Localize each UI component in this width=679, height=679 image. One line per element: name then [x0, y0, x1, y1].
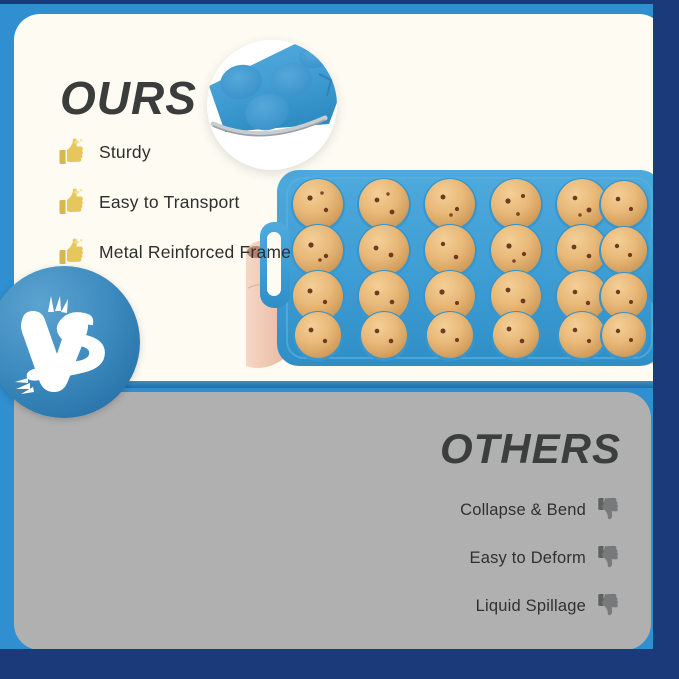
- ours-feature-label: Easy to Transport: [99, 192, 240, 213]
- reinforced-frame-detail-icon: [207, 40, 337, 170]
- others-feature-label: Easy to Deform: [469, 549, 586, 568]
- others-heading: OTHERS: [440, 425, 621, 473]
- comparison-infographic: OURS Sturdy: [0, 0, 679, 679]
- thumbs-up-icon: [56, 137, 84, 167]
- others-panel: OTHERS Collapse & Bend Easy to Deform: [14, 392, 651, 650]
- thumbs-up-icon: [56, 187, 84, 217]
- ours-product-photo: [246, 160, 665, 385]
- vs-badge: VS: [0, 266, 140, 418]
- others-feature-item: Liquid Spillage: [460, 593, 623, 619]
- ours-feature-item: Metal Reinforced Frame: [56, 237, 291, 267]
- others-feature-list: Collapse & Bend Easy to Deform: [460, 497, 623, 619]
- ours-detail-inset: [207, 40, 337, 170]
- ours-feature-item: Easy to Transport: [56, 187, 291, 217]
- others-feature-label: Liquid Spillage: [476, 597, 586, 616]
- thumbs-down-icon: [598, 545, 623, 571]
- ours-feature-label: Metal Reinforced Frame: [99, 242, 291, 263]
- ours-feature-label: Sturdy: [99, 142, 151, 163]
- thumbs-up-icon: [56, 237, 84, 267]
- frame-right-upper-border: [671, 0, 679, 380]
- others-feature-label: Collapse & Bend: [460, 501, 586, 520]
- thumbs-down-icon: [598, 497, 623, 523]
- others-feature-item: Collapse & Bend: [460, 497, 623, 523]
- frame-bottom-border: [0, 649, 679, 679]
- frame-top-border: [0, 0, 679, 4]
- thumbs-down-icon: [598, 593, 623, 619]
- muffin-tray: [260, 170, 665, 366]
- others-feature-item: Easy to Deform: [460, 545, 623, 571]
- ours-heading: OURS: [60, 71, 197, 125]
- vs-badge-icon: [8, 286, 120, 398]
